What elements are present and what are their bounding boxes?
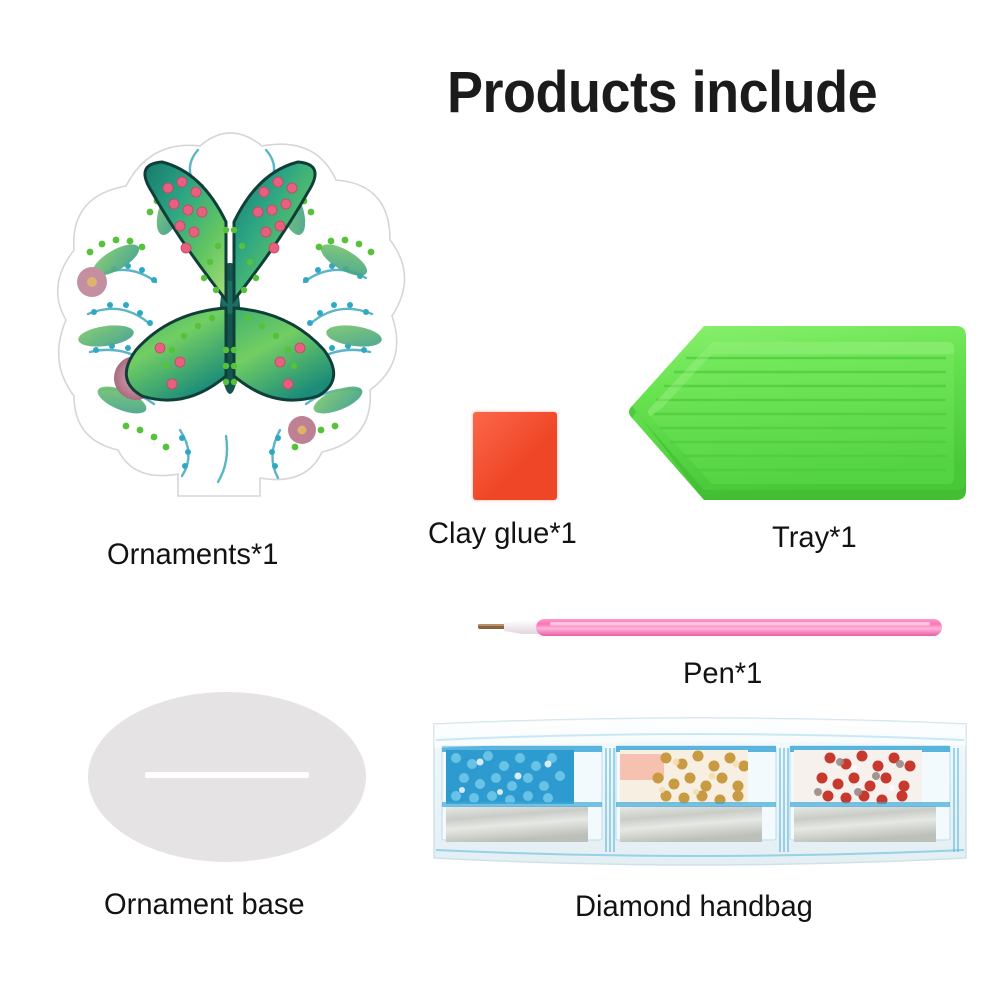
diamond-handbag-icon <box>430 706 970 876</box>
product-diamond-handbag <box>430 706 970 876</box>
product-ornament-base <box>88 692 366 862</box>
rhinestones-gold <box>620 750 750 806</box>
caption-ornaments: Ornaments*1 <box>107 538 278 572</box>
inner-bag-gold <box>616 746 776 842</box>
product-ornaments <box>30 100 430 500</box>
butterfly-ornament-icon <box>30 100 430 500</box>
drill-pen-icon <box>470 612 950 646</box>
caption-pen: Pen*1 <box>683 657 762 691</box>
infographic-canvas: Products include <box>0 0 1001 1001</box>
product-pen <box>470 612 950 646</box>
rhinestones-blue <box>446 750 574 805</box>
caption-clay-glue: Clay glue*1 <box>428 517 577 551</box>
inner-bag-red <box>790 746 950 842</box>
pen-ferrule <box>504 620 540 634</box>
caption-ornament-base: Ornament base <box>104 888 305 922</box>
caption-tray: Tray*1 <box>772 521 857 555</box>
foil-back-gold <box>620 806 762 842</box>
page-title: Products include <box>447 64 877 122</box>
drill-tray-icon <box>626 322 970 504</box>
rhinestones-red <box>794 750 922 806</box>
caption-diamond-handbag: Diamond handbag <box>575 890 813 924</box>
product-tray <box>626 322 970 504</box>
foil-back-red <box>794 806 936 842</box>
ornament-base-slot <box>145 772 309 778</box>
product-clay-glue <box>473 412 557 500</box>
pen-barrel <box>536 619 942 636</box>
foil-back-blue <box>446 806 588 842</box>
inner-bag-blue <box>442 746 602 842</box>
